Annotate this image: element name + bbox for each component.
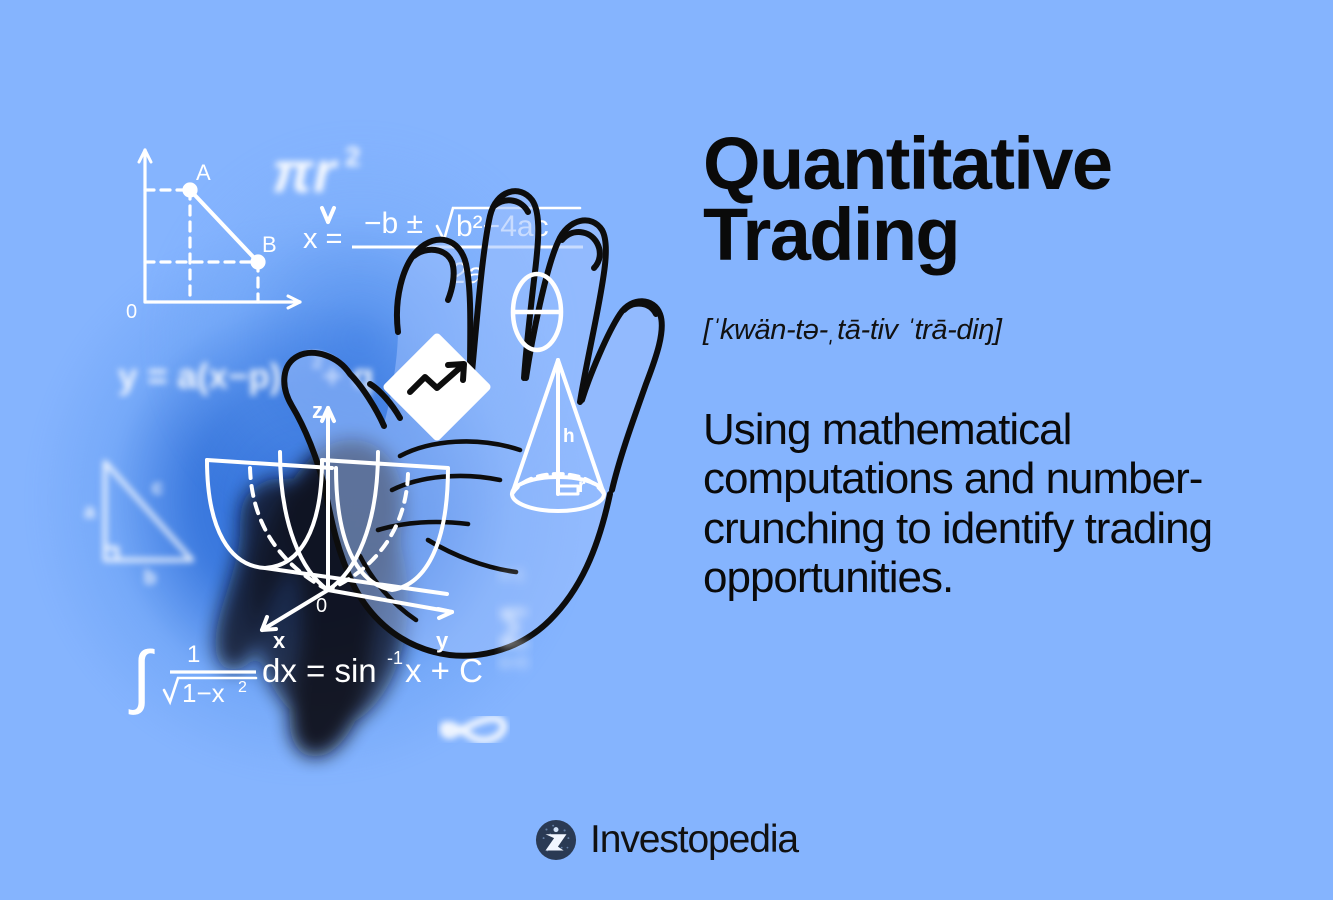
pronunciation-text: [ˈkwän-tə-ˌtā-tiv ˈtrā-diŋ] (703, 270, 1223, 347)
triangle-label-b: b (144, 567, 156, 589)
quadratic-lhs: x = (303, 223, 343, 255)
hand-with-math-illustration: A B 0 πr 2 x = −b ± b²−4ac 2a y = a(x−p)… (0, 0, 700, 820)
cone-label-r: r (578, 476, 586, 497)
line-graph-labels: A B 0 (126, 160, 277, 323)
axis-label-y: y (436, 628, 449, 653)
paraboloid-origin: 0 (316, 595, 327, 617)
definition-card: A B 0 πr 2 x = −b ± b²−4ac 2a y = a(x−p)… (0, 0, 1333, 900)
brand-footer[interactable]: Investopedia (0, 818, 1333, 862)
infinity-symbol (443, 719, 503, 741)
definition-text-column: QuantitativeTrading [ˈkwän-tə-ˌtā-tiv ˈt… (703, 128, 1223, 602)
svg-text:πr: πr (272, 140, 339, 205)
sigma-lower-limit: k=0 (500, 653, 528, 672)
cone-label-h: h (563, 426, 575, 447)
triangle-label-a: a (84, 501, 96, 523)
integral-tail: x + C (405, 652, 483, 689)
title-line-2: Trading (703, 193, 959, 276)
triangle-label-c: c (152, 477, 163, 499)
quadratic-numerator: −b ± (364, 207, 423, 240)
integral-denominator-exp: 2 (238, 679, 247, 696)
integral-numerator: 1 (187, 641, 200, 668)
right-triangle: a c b (84, 462, 192, 589)
graph-label-origin: 0 (126, 301, 137, 323)
sigma-symbol: Σ (498, 600, 530, 658)
integral-denominator: 1−x (182, 678, 225, 708)
integral-rhs: dx = sin (262, 652, 377, 689)
integral-sign: ∫ (128, 637, 155, 715)
axis-label-z: z (312, 398, 323, 423)
axis-label-x: x (273, 628, 286, 653)
svg-text:2: 2 (345, 141, 361, 172)
brand-name: Investopedia (590, 818, 798, 862)
svg-text:y = a(x−p): y = a(x−p) (118, 357, 281, 396)
definition-description: Using mathematical computations and numb… (703, 347, 1223, 602)
graph-label-b: B (262, 232, 277, 257)
graph-label-a: A (196, 160, 211, 185)
pi-r-squared-formula: πr 2 (272, 140, 361, 205)
investopedia-swoosh-icon (535, 819, 577, 861)
integral-exponent: -1 (387, 648, 403, 668)
page-title: QuantitativeTrading (703, 128, 1223, 270)
sigma-upper-limit: n-1 (500, 565, 525, 584)
